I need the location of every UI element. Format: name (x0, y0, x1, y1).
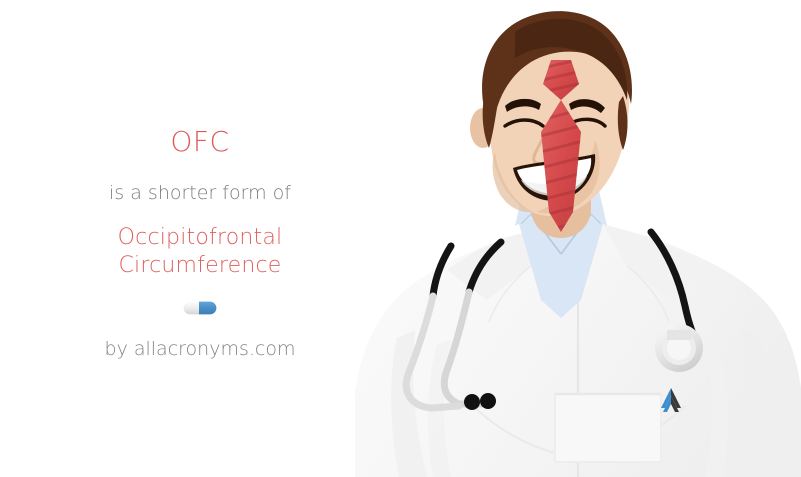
doctor-svg (355, 0, 801, 477)
coat-pocket (555, 394, 661, 462)
smiling-doctor-illustration (355, 0, 801, 477)
acronym-text-panel: OFC is a shorter form of Occipitofrontal… (0, 0, 400, 477)
pill-icon-wrap (183, 301, 217, 315)
page-canvas: OFC is a shorter form of Occipitofrontal… (0, 0, 801, 477)
byline-credit: by allacronyms.com (105, 338, 296, 360)
expansion-line-2: Circumference (118, 253, 281, 278)
stethoscope-eartip-left (464, 394, 480, 410)
expansion-line-1: Occipitofrontal (118, 225, 283, 250)
pill-capsule-icon (183, 301, 217, 315)
relation-label: is a shorter form of (109, 183, 291, 204)
acronym-title: OFC (170, 128, 229, 156)
expansion-text: Occipitofrontal Circumference (118, 224, 283, 280)
stethoscope-eartip-right (480, 393, 496, 409)
stethoscope-chestpiece (655, 324, 703, 372)
